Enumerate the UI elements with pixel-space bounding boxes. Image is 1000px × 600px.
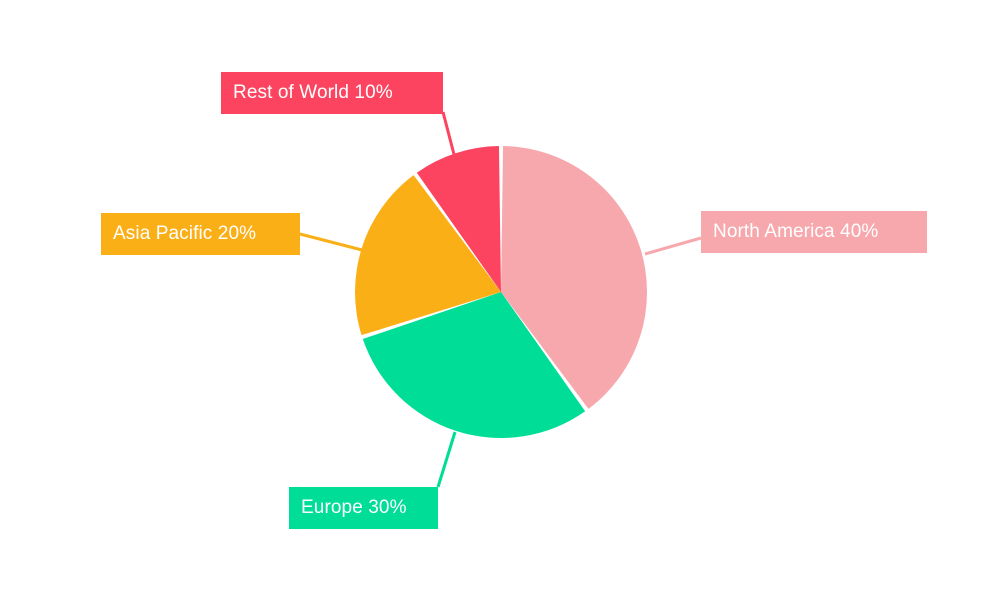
pie-chart-canvas (0, 0, 1000, 600)
pie-slice-label-text: Rest of World 10% (233, 83, 393, 102)
pie-slice-label-north-america[interactable]: North America 40% (701, 211, 927, 253)
pie-slice-label-rest-of-world[interactable]: Rest of World 10% (221, 72, 443, 114)
pie-slice-label-text: North America 40% (713, 222, 878, 241)
pie-slice-label-text: Asia Pacific 20% (113, 224, 256, 243)
pie-slice-label-europe[interactable]: Europe 30% (289, 487, 438, 529)
pie-slice-label-asia-pacific[interactable]: Asia Pacific 20% (101, 213, 300, 255)
pie-slice-label-text: Europe 30% (301, 498, 407, 517)
pie-chart-figure: North America 40% Europe 30% Asia Pacifi… (0, 0, 1000, 600)
